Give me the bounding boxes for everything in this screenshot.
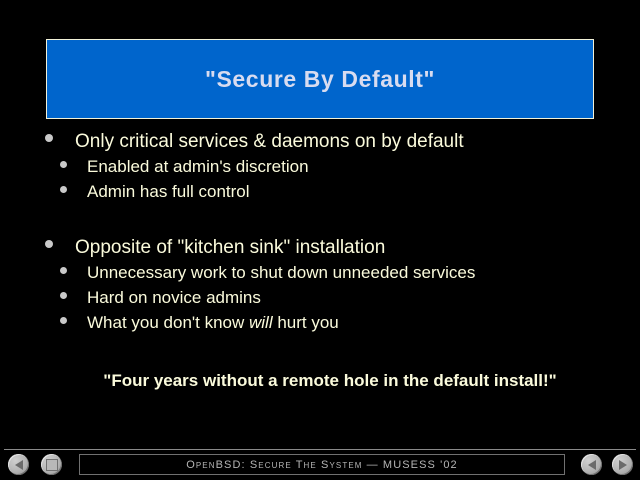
slide-title-banner: "Secure By Default" (46, 39, 594, 119)
next-slide-button[interactable] (612, 454, 633, 475)
bullet-text-emphasis: will (249, 313, 273, 332)
index-button[interactable] (41, 454, 62, 475)
triangle-left-icon (15, 460, 23, 470)
bullet-text: Admin has full control (87, 182, 250, 202)
first-slide-button[interactable] (8, 454, 29, 475)
bullet-text: What you don't know will hurt you (87, 313, 339, 333)
slide-quote: "Four years without a remote hole in the… (0, 371, 640, 391)
bullet-item: Enabled at admin's discretion (0, 157, 640, 182)
bullet-text: Opposite of "kitchen sink" installation (75, 237, 385, 259)
bullet-item: Opposite of "kitchen sink" installation (0, 237, 640, 263)
footer-separator (4, 449, 636, 450)
bullet-item: Admin has full control (0, 182, 640, 207)
slide-body: Only critical services & daemons on by d… (0, 131, 640, 338)
bullet-item: What you don't know will hurt you (0, 313, 640, 338)
bullet-group-spacer (0, 207, 640, 237)
footer-title: OpenBSD: Secure The System — MUSESS '02 (186, 459, 458, 471)
slide-footer: OpenBSD: Secure The System — MUSESS '02 (0, 451, 640, 480)
slide-title: "Secure By Default" (205, 66, 435, 93)
triangle-right-icon (619, 460, 627, 470)
bullet-marker-icon (60, 317, 67, 324)
bullet-item: Only critical services & daemons on by d… (0, 131, 640, 157)
bullet-marker-icon (45, 134, 53, 142)
bullet-text: Hard on novice admins (87, 288, 261, 308)
bullet-text: Unnecessary work to shut down unneeded s… (87, 263, 475, 283)
bullet-marker-icon (60, 186, 67, 193)
bullet-marker-icon (45, 240, 53, 248)
bullet-marker-icon (60, 161, 67, 168)
bullet-item: Hard on novice admins (0, 288, 640, 313)
triangle-left-icon (588, 460, 596, 470)
bullet-text: Enabled at admin's discretion (87, 157, 309, 177)
previous-slide-button[interactable] (581, 454, 602, 475)
bullet-text: Only critical services & daemons on by d… (75, 131, 464, 153)
footer-title-box: OpenBSD: Secure The System — MUSESS '02 (79, 454, 565, 475)
square-icon (46, 459, 58, 471)
bullet-marker-icon (60, 267, 67, 274)
presentation-slide: "Secure By Default" Only critical servic… (0, 0, 640, 480)
bullet-marker-icon (60, 292, 67, 299)
bullet-item: Unnecessary work to shut down unneeded s… (0, 263, 640, 288)
